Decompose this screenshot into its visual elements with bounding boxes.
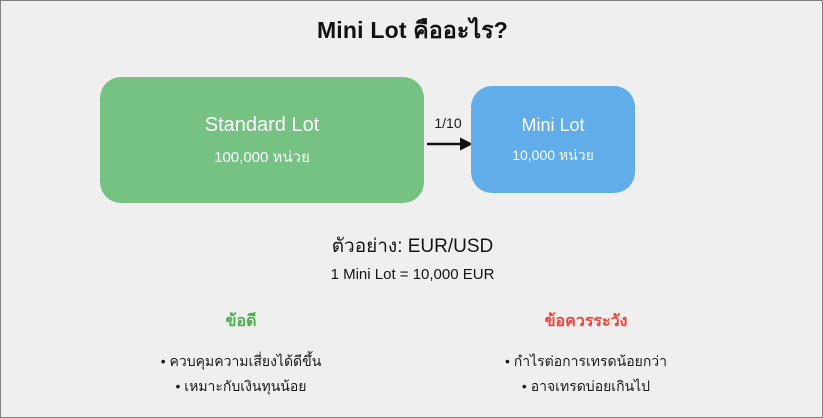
list-item: • ควบคุมความเสี่ยงได้ดีขึ้น [76, 349, 406, 375]
mini-lot-subtitle: 10,000 หน่วย [512, 148, 594, 163]
standard-lot-title: Standard Lot [205, 114, 320, 136]
list-item: • อาจเทรดบ่อยเกินไป [421, 374, 751, 400]
standard-lot-box: Standard Lot 100,000 หน่วย [100, 77, 424, 203]
list-item: • กำไรต่อการเทรดน้อยกว่า [421, 349, 751, 375]
example-heading: ตัวอย่าง: EUR/USD [1, 231, 823, 261]
page-title: Mini Lot คืออะไร? [1, 13, 823, 49]
pros-column: ข้อดี • ควบคุมความเสี่ยงได้ดีขึ้น • เหมา… [76, 313, 406, 400]
arrow-ratio-label: 1/10 [426, 115, 470, 131]
cons-heading: ข้อควรระวัง [421, 313, 751, 331]
arrow-right-icon [426, 136, 474, 152]
cons-column: ข้อควรระวัง • กำไรต่อการเทรดน้อยกว่า • อ… [421, 313, 751, 400]
conversion-arrow-group: 1/10 [426, 115, 474, 155]
mini-lot-box: Mini Lot 10,000 หน่วย [471, 86, 635, 193]
example-subtext: 1 Mini Lot = 10,000 EUR [1, 266, 823, 283]
pros-heading: ข้อดี [76, 313, 406, 331]
infographic-canvas: Mini Lot คืออะไร? Standard Lot 100,000 ห… [0, 0, 823, 418]
standard-lot-subtitle: 100,000 หน่วย [214, 150, 310, 167]
list-item: • เหมาะกับเงินทุนน้อย [76, 374, 406, 400]
cons-list: • กำไรต่อการเทรดน้อยกว่า • อาจเทรดบ่อยเก… [421, 349, 751, 401]
mini-lot-title: Mini Lot [521, 116, 584, 136]
pros-list: • ควบคุมความเสี่ยงได้ดีขึ้น • เหมาะกับเง… [76, 349, 406, 401]
